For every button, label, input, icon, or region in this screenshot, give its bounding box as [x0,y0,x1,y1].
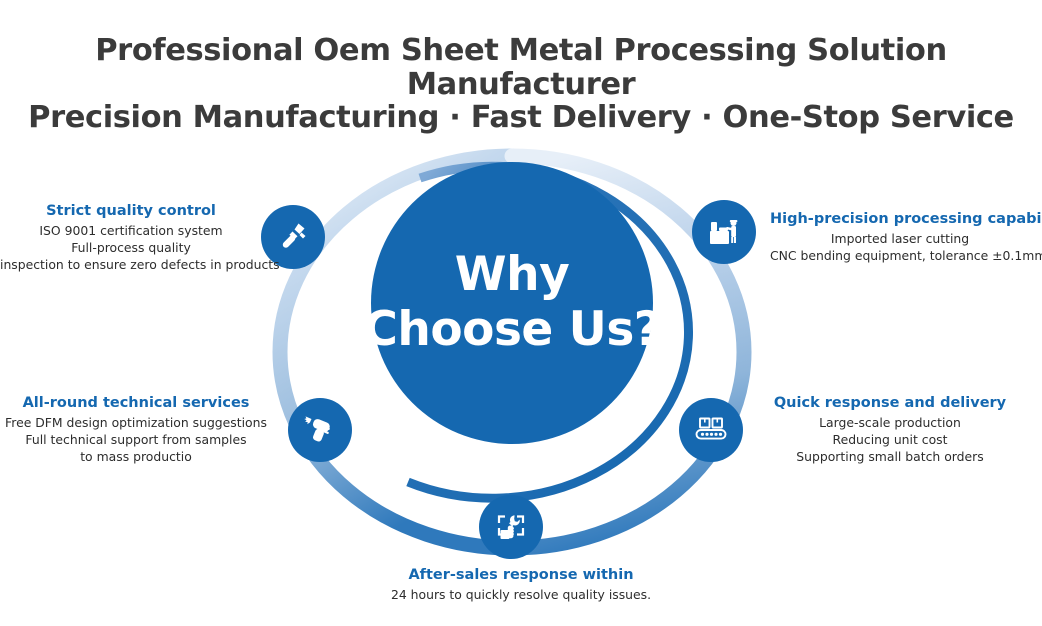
feature-text-quick-response-and-delivery: Quick response and delivery Large-scale … [760,394,1020,465]
worker-at-machine-icon [705,213,743,251]
feature-line: Free DFM design optimization suggestions [0,414,272,431]
feature-line: Imported laser cutting [770,230,1030,247]
feature-line: ISO 9001 certification system [0,222,262,239]
feature-line: Large-scale production [760,414,1020,431]
hand-wrench-screen-icon [492,508,530,546]
feature-line: to mass productio [0,448,272,465]
feature-icon-after-sales-response[interactable] [479,495,543,559]
feature-text-high-precision-processing: High-precision processing capability Imp… [770,210,1030,264]
center-title-line-1: Why [455,248,569,303]
center-title-line-2: Choose Us? [363,303,660,358]
feature-line: inspection to ensure zero defects in pro… [0,256,262,273]
feature-icon-high-precision-processing[interactable] [692,200,756,264]
feature-line: Full-process quality [0,239,262,256]
feature-heading: After-sales response within [381,566,661,586]
feature-heading: All-round technical services [0,394,272,414]
feature-line: CNC bending equipment, tolerance ±0.1mm [770,247,1030,264]
conveyor-belt-boxes-icon [692,411,730,449]
feature-icon-all-round-technical-services[interactable] [288,398,352,462]
chisel-tool-icon [274,218,312,256]
infographic-root: Professional Oem Sheet Metal Processing … [0,0,1042,626]
feature-line: Full technical support from samples [0,431,272,448]
feature-text-strict-quality-control: Strict quality control ISO 9001 certific… [0,202,262,273]
feature-line: Supporting small batch orders [760,448,1020,465]
feature-text-after-sales-response: After-sales response within 24 hours to … [381,566,661,603]
feature-heading: High-precision processing capability [770,210,1030,230]
feature-heading: Quick response and delivery [760,394,1020,414]
feature-text-all-round-technical-services: All-round technical services Free DFM de… [0,394,272,465]
feature-heading: Strict quality control [0,202,262,222]
feature-icon-quick-response-and-delivery[interactable] [679,398,743,462]
why-choose-us-diagram: Why Choose Us? [0,130,1042,626]
title-line-1: Professional Oem Sheet Metal Processing … [0,34,1042,101]
feature-line: Reducing unit cost [760,431,1020,448]
page-title: Professional Oem Sheet Metal Processing … [0,34,1042,135]
center-circle: Why Choose Us? [371,162,653,444]
feature-line: 24 hours to quickly resolve quality issu… [381,586,661,603]
power-drill-icon [301,411,339,449]
